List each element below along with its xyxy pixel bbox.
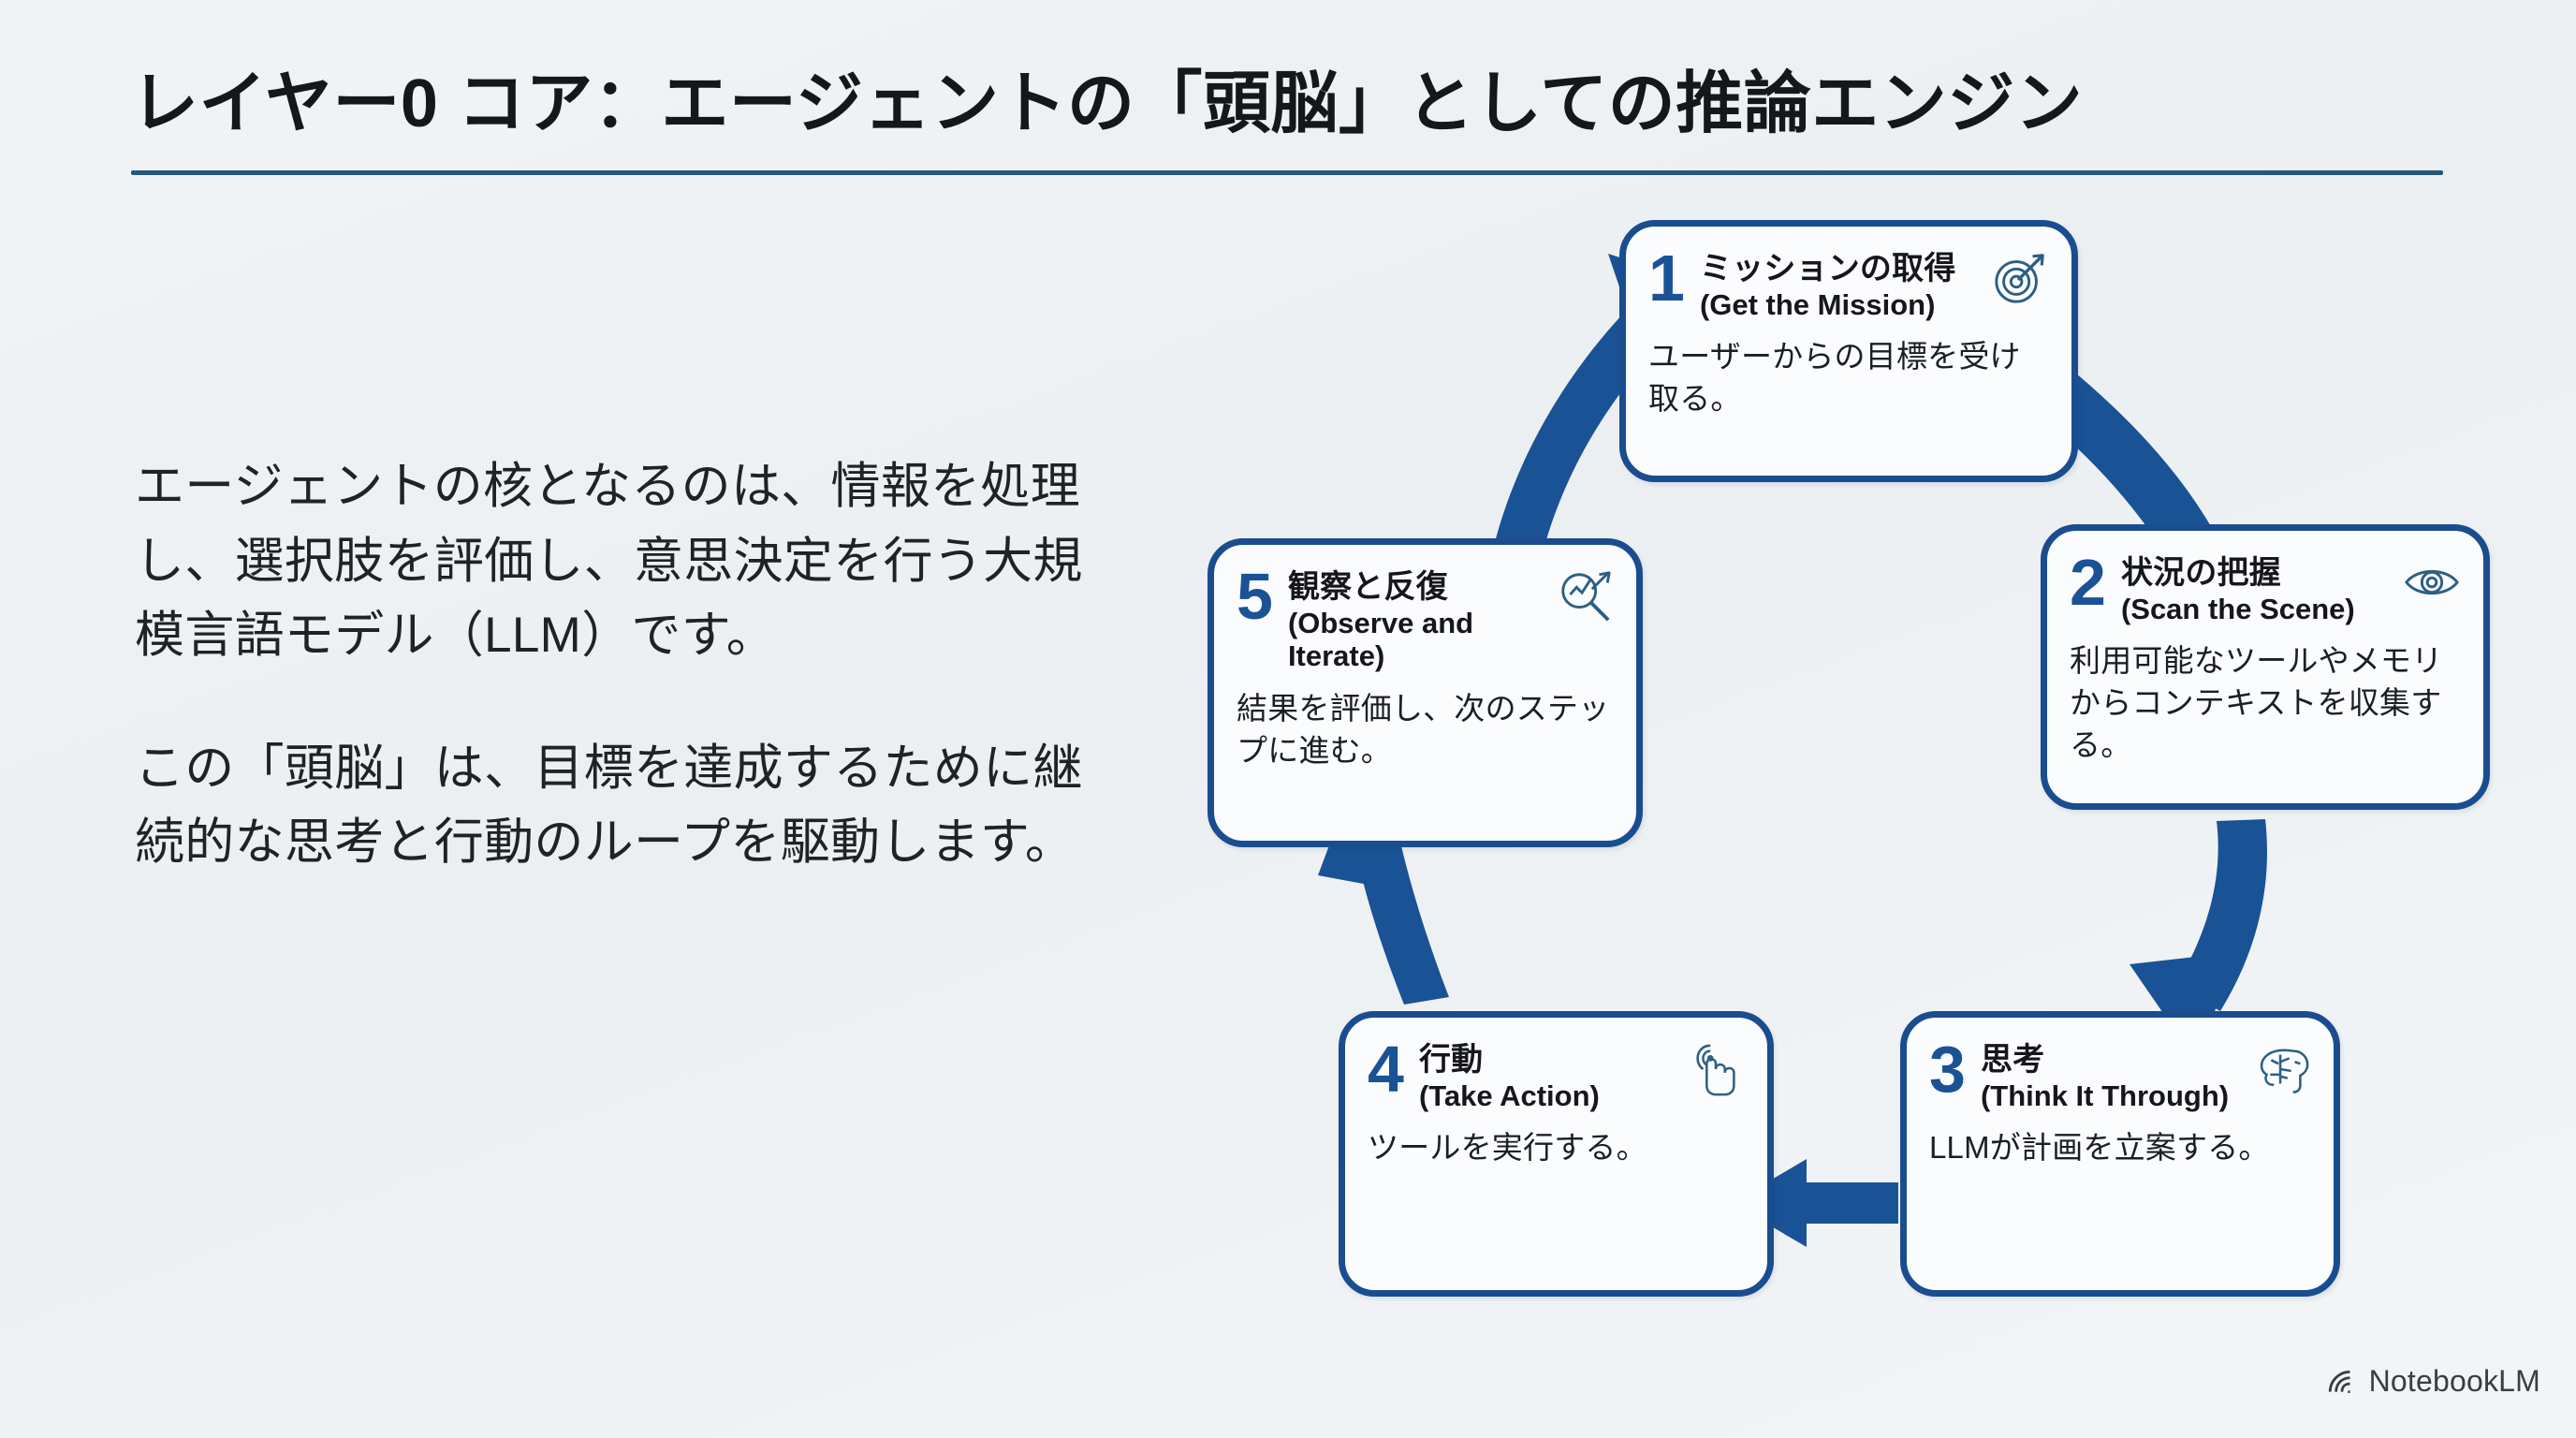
tap-hand-icon [1687, 1040, 1745, 1098]
page-title: レイヤー0 コア：エージェントの「頭脳」としての推論エンジン [131, 66, 2443, 142]
paragraph-2: この「頭脳」は、目標を達成するために継続的な思考と行動のループを駆動します。 [135, 731, 1099, 880]
step-number: 5 [1237, 565, 1273, 628]
eye-icon [2403, 553, 2461, 611]
step-number: 4 [1368, 1038, 1404, 1101]
step-description: 結果を評価し、次のステップに進む。 [1237, 688, 1614, 772]
step-description: 利用可能なツールやメモリからコンテキストを収集する。 [2070, 640, 2461, 767]
step-card-5-titles: 観察と反復 (Observe and Iterate) [1288, 565, 1550, 673]
chart-magnifier-icon [1556, 567, 1614, 625]
step-title-en: (Get the Mission) [1700, 288, 1985, 321]
step-card-2[interactable]: 2 状況の把握 (Scan the Scene) 利用可能なツールやメモリからコ… [2041, 524, 2490, 810]
step-title-en: (Take Action) [1419, 1079, 1681, 1112]
notebooklm-fan-icon [2326, 1366, 2358, 1398]
step-title-en: (Think It Through) [1981, 1079, 2247, 1112]
slide-canvas: レイヤー0 コア：エージェントの「頭脳」としての推論エンジン エージェントの核と… [0, 0, 2576, 1438]
step-description: LLMが計画を立案する。 [1929, 1127, 2311, 1169]
step-card-3-titles: 思考 (Think It Through) [1981, 1038, 2247, 1112]
step-card-2-titles: 状況の把握 (Scan the Scene) [2121, 551, 2397, 625]
step-card-5[interactable]: 5 観察と反復 (Observe and Iterate) 結果を評価し、次のス… [1207, 538, 1643, 847]
title-divider [131, 170, 2443, 175]
target-dart-icon [1991, 249, 2049, 307]
step-number: 1 [1648, 247, 1685, 310]
step-title-ja: ミッションの取得 [1700, 251, 1985, 286]
step-card-3[interactable]: 3 思考 (Think It Through) [1900, 1011, 2340, 1297]
body-copy: エージェントの核となるのは、情報を処理し、選択肢を評価し、意思決定を行う大規模言… [135, 449, 1099, 880]
paragraph-1: エージェントの核となるのは、情報を処理し、選択肢を評価し、意思決定を行う大規模言… [135, 449, 1099, 673]
step-card-1-titles: ミッションの取得 (Get the Mission) [1700, 247, 1985, 321]
step-card-5-header: 5 観察と反復 (Observe and Iterate) [1237, 565, 1614, 673]
step-description: ユーザーからの目標を受け取る。 [1648, 336, 2049, 420]
agent-loop-diagram: 1 ミッションの取得 (Get the Mission) ユーザーからの目標を受… [1207, 220, 2518, 1325]
step-title-en: (Scan the Scene) [2121, 593, 2397, 625]
step-title-ja: 思考 [1981, 1042, 2247, 1078]
step-number: 2 [2070, 551, 2106, 614]
notebooklm-badge: NotebookLM [2326, 1364, 2540, 1399]
step-card-1[interactable]: 1 ミッションの取得 (Get the Mission) ユーザーからの目標を受… [1619, 220, 2078, 482]
brain-icon [2253, 1040, 2311, 1098]
step-title-ja: 行動 [1419, 1042, 1681, 1078]
step-title-ja: 状況の把握 [2121, 555, 2397, 591]
step-number: 3 [1929, 1038, 1966, 1101]
title-block: レイヤー0 コア：エージェントの「頭脳」としての推論エンジン [131, 66, 2443, 175]
notebooklm-label: NotebookLM [2369, 1364, 2540, 1399]
step-card-4[interactable]: 4 行動 (Take Action) ツールを実行する。 [1339, 1011, 1774, 1297]
step-card-1-header: 1 ミッションの取得 (Get the Mission) [1648, 247, 2049, 321]
step-card-2-header: 2 状況の把握 (Scan the Scene) [2070, 551, 2461, 625]
step-card-3-header: 3 思考 (Think It Through) [1929, 1038, 2311, 1112]
step-card-4-titles: 行動 (Take Action) [1419, 1038, 1681, 1112]
step-card-4-header: 4 行動 (Take Action) [1368, 1038, 1745, 1112]
step-description: ツールを実行する。 [1368, 1127, 1745, 1169]
step-title-ja: 観察と反復 [1288, 569, 1550, 605]
step-title-en: (Observe and Iterate) [1288, 607, 1550, 673]
